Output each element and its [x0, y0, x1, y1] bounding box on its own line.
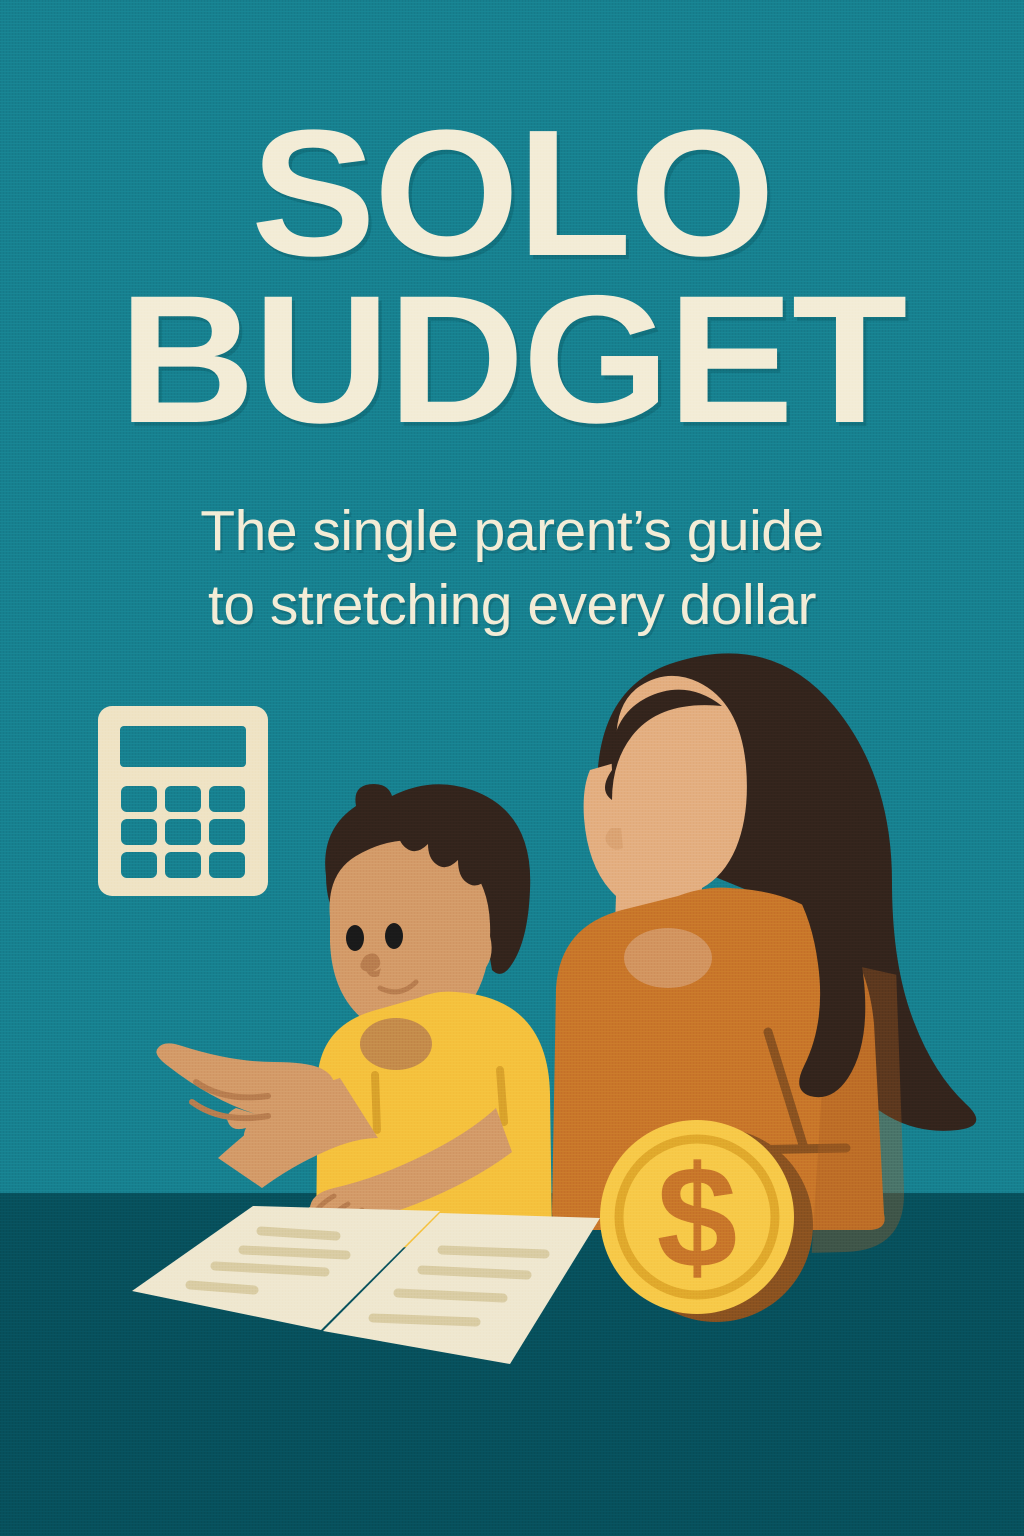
cover-title-line-1: SOLO — [0, 118, 1024, 269]
cover-subtitle-block: The single parent’s guide to stretching … — [0, 494, 1024, 642]
cover-subtitle-line-2: to stretching every dollar — [0, 568, 1024, 642]
coin-dollar-symbol: $ — [657, 1136, 738, 1298]
book-cover: $ SOLO BUDGET The single parent’s guide … — [0, 0, 1024, 1536]
cover-subtitle-line-1: The single parent’s guide — [0, 494, 1024, 568]
cover-text-block: SOLO BUDGET The single parent’s guide to… — [0, 0, 1024, 642]
cover-title-line-2: BUDGET — [0, 283, 1024, 436]
